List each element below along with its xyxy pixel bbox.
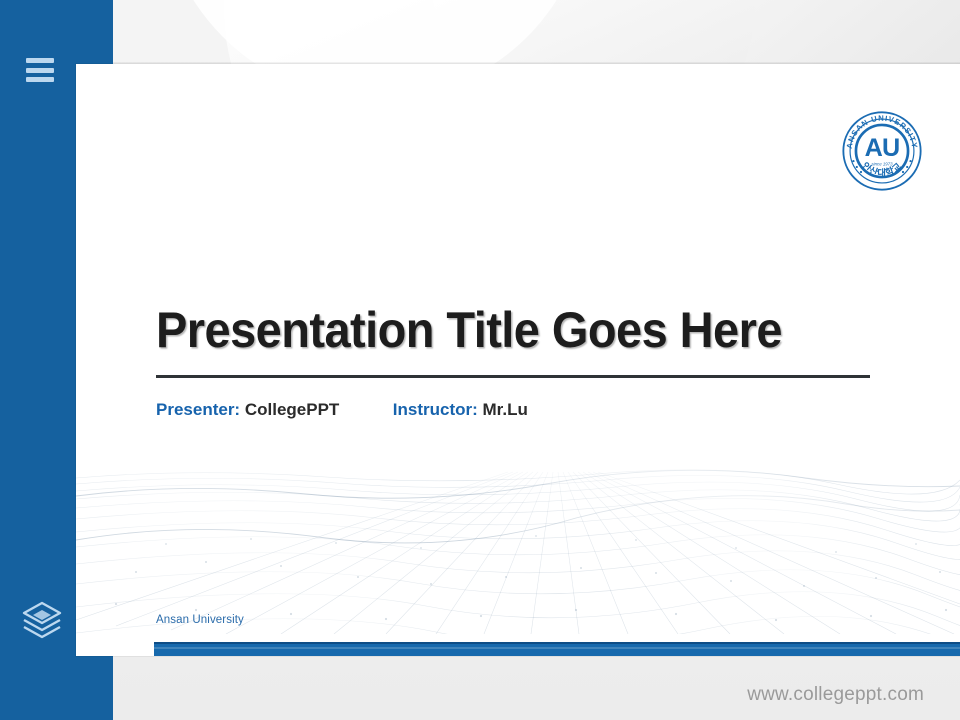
page-title: Presentation Title Goes Here <box>156 304 829 357</box>
byline: Presenter: CollegePPT Instructor: Mr.Lu <box>156 400 872 420</box>
slide-bottom-accent-highlight <box>154 647 960 649</box>
slide-bottom-accent-bar <box>154 642 960 656</box>
slide-footer-label: Ansan University <box>156 614 244 626</box>
hamburger-menu-icon[interactable] <box>26 58 54 82</box>
instructor-name: Mr.Lu <box>483 400 528 419</box>
presentation-slide: ANSAN UNIVERSITY 안산대학교 AU since 1973 Pre… <box>76 64 960 656</box>
title-divider <box>156 375 870 378</box>
hamburger-bar-1 <box>26 58 54 63</box>
presenter-label: Presenter: <box>156 400 240 419</box>
wireframe-mesh-wave-graphic <box>76 444 960 634</box>
layers-stack-icon[interactable] <box>20 600 64 642</box>
logo-since-text: since 1973 <box>871 161 893 166</box>
hamburger-bar-2 <box>26 68 54 73</box>
title-block: Presentation Title Goes Here Presenter: … <box>156 304 872 420</box>
ansan-university-seal-logo: ANSAN UNIVERSITY 안산대학교 AU since 1973 <box>840 109 924 193</box>
logo-monogram: AU <box>865 134 900 162</box>
presenter-name: CollegePPT <box>245 400 339 419</box>
instructor-label: Instructor: <box>393 400 478 419</box>
hamburger-bar-3 <box>26 77 54 82</box>
site-watermark: www.collegeppt.com <box>747 684 924 706</box>
